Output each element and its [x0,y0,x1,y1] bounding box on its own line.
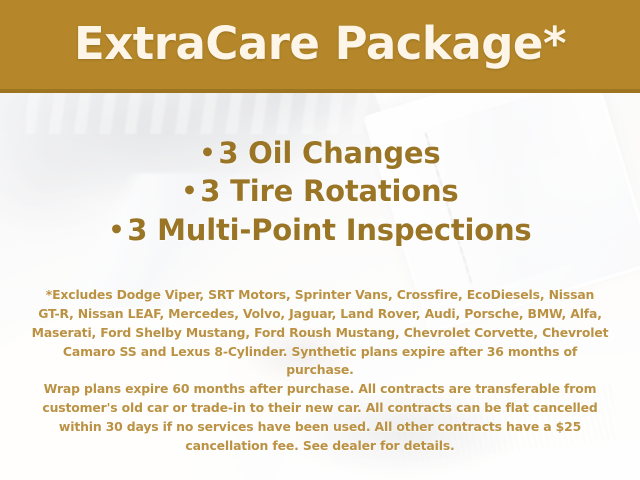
bullet-dot-icon: • [182,176,198,205]
disclaimer-line: Wrap plans expire 60 months after purcha… [28,380,612,399]
bullet-dot-icon: • [108,215,124,244]
disclaimer-text: *Excludes Dodge Viper, SRT Motors, Sprin… [28,286,612,456]
page-title: ExtraCare Package* [74,21,566,66]
benefits-list: •3 Oil Changes •3 Tire Rotations •3 Mult… [0,134,640,249]
disclaimer-line: Camaro SS and Lexus 8-Cylinder. Syntheti… [28,343,612,381]
disclaimer-line: customer's old car or trade-in to their … [28,399,612,418]
bullet-dot-icon: • [200,138,216,167]
benefit-label: 3 Multi-Point Inspections [127,213,531,247]
disclaimer-line: Maserati, Ford Shelby Mustang, Ford Rous… [28,324,612,343]
disclaimer-line: GT-R, Nissan LEAF, Mercedes, Volvo, Jagu… [28,305,612,324]
list-item: •3 Multi-Point Inspections [0,211,640,249]
benefit-label: 3 Tire Rotations [200,174,458,208]
benefit-label: 3 Oil Changes [218,136,440,170]
disclaimer-line: *Excludes Dodge Viper, SRT Motors, Sprin… [28,286,612,305]
disclaimer-line: cancellation fee. See dealer for details… [28,437,612,456]
extracare-package-slide: ExtraCare Package* •3 Oil Changes •3 Tir… [0,0,640,480]
list-item: •3 Oil Changes [0,134,640,172]
header-band: ExtraCare Package* [0,0,640,93]
disclaimer-line: within 30 days if no services have been … [28,418,612,437]
list-item: •3 Tire Rotations [0,172,640,210]
